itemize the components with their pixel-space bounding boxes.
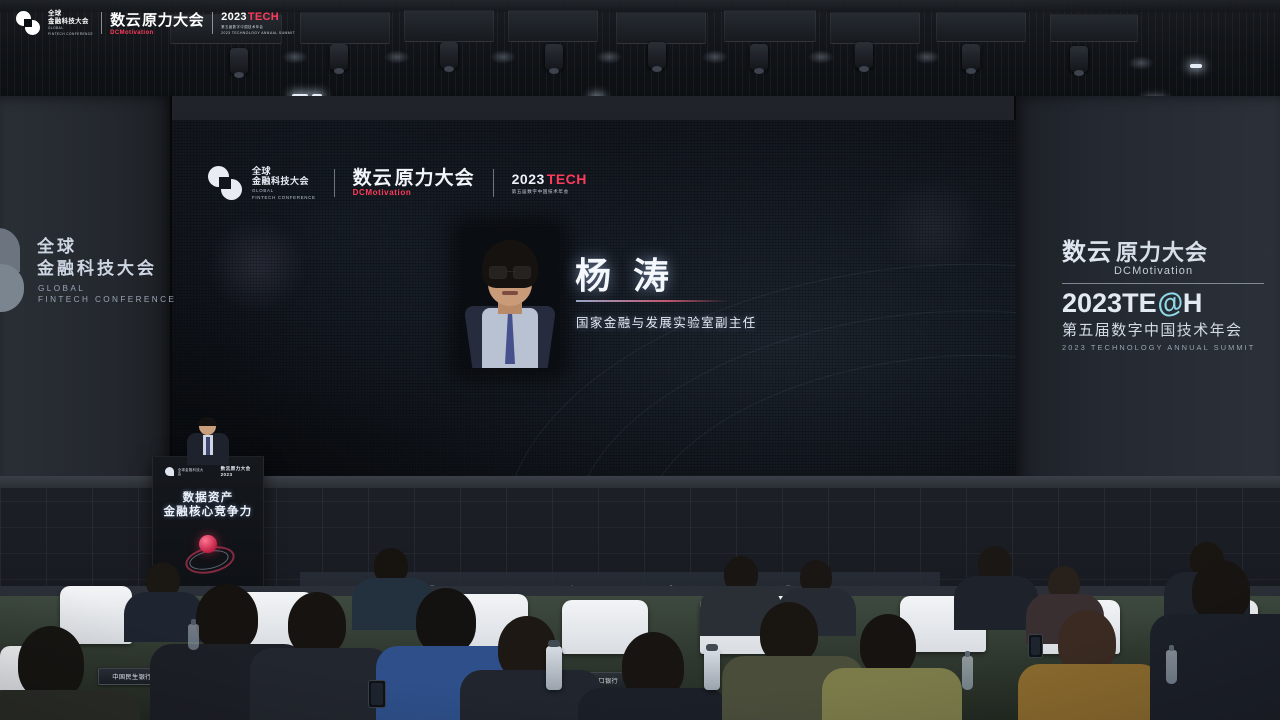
right-wall-branding: 数云 原力大会 DCMotivation 2023TE@H 第五届数字中国技术年… — [1062, 232, 1268, 352]
speaker-name-rule — [576, 300, 728, 302]
audience-head-front — [860, 614, 916, 676]
logo-divider — [334, 169, 335, 197]
audience-shoulders-front — [822, 668, 962, 720]
overlay-divider — [101, 12, 102, 34]
audience-head-front — [288, 592, 346, 656]
stage-light — [230, 48, 248, 74]
fintech-en-line1: GLOBAL — [252, 188, 316, 193]
speaker-title: 国家金融与发展实验室副主任 — [576, 312, 757, 331]
audience-head-front — [196, 584, 258, 652]
right-wall-summit-cn: 第五届数字中国技术年会 — [1062, 319, 1268, 340]
led-screen-logo-lockup: 全球 金融科技大会 GLOBAL FINTECH CONFERENCE 数云 原… — [208, 166, 587, 201]
event-title-en: DCMotivation — [353, 188, 475, 197]
stage-light — [855, 42, 873, 68]
ceiling-panel — [936, 12, 1026, 42]
audience-head-front — [1192, 560, 1250, 622]
left-wall-en-line1: GLOBAL — [38, 283, 176, 294]
presenter-at-podium — [185, 418, 231, 462]
left-wall-cn-line1: 全球 — [37, 236, 157, 258]
right-wall-summit-en: 2023 TECHNOLOGY ANNUAL SUMMIT — [1062, 343, 1268, 352]
decor-nebula — [212, 210, 302, 320]
podium-logo: 全球金融科技大会 数云原力大会 2023 — [165, 466, 263, 477]
podium-headline-line2: 金融核心竞争力 — [153, 503, 263, 519]
lamp-glow — [702, 50, 728, 64]
right-wall-year: 2023 — [1062, 288, 1122, 318]
overlay-year-subtitle-en: 2023 TECHNOLOGY ANNUAL SUMMIT — [221, 31, 295, 35]
thermos-bottle — [704, 650, 720, 690]
overlay-tech: TECH — [248, 11, 279, 23]
left-wall-cn-line2: 金融科技大会 — [37, 258, 157, 280]
broadcast-overlay: 全球 金融科技大会 GLOBAL FINTECH CONFERENCE 数云 原… — [10, 6, 301, 40]
left-wall-en-line2: FINTECH CONFERENCE — [38, 294, 176, 305]
stage-light — [648, 42, 666, 68]
overlay-year-divider — [212, 12, 213, 34]
year-number: 2023 — [512, 172, 545, 187]
overlay-cn-line1: 全球 — [48, 10, 93, 17]
stage-light — [330, 44, 348, 70]
ceiling-panel — [1050, 14, 1138, 42]
overlay-en-line2: FINTECH CONFERENCE — [48, 32, 93, 36]
podium-logo-event: 数云原力大会 2023 — [221, 466, 263, 477]
audience-shoulders-front — [0, 690, 140, 720]
overlay-brand-cn: 数云 — [110, 13, 141, 28]
year-subtitle: 第五届数字中国技术年会 — [512, 189, 587, 195]
ceiling-panel — [508, 10, 598, 42]
lamp-glow — [384, 50, 410, 64]
right-wall-title-en: DCMotivation — [1114, 265, 1268, 277]
right-wall-rule — [1062, 283, 1264, 284]
lamp-glow — [596, 50, 622, 64]
stage-light — [1070, 46, 1088, 72]
stage-light — [750, 44, 768, 70]
left-wall-brand-cn: 全球 金融科技大会 — [37, 236, 157, 280]
smartphone[interactable] — [1028, 634, 1043, 658]
audience-shoulders-front — [1018, 664, 1162, 720]
year-divider — [493, 169, 494, 197]
thermos-bottle — [546, 646, 562, 690]
speaker-name: 杨涛 — [575, 247, 691, 299]
fintech-logo-text: 全球 金融科技大会 GLOBAL FINTECH CONFERENCE — [252, 166, 316, 201]
broadcast-fintech-text: 全球 金融科技大会 GLOBAL FINTECH CONFERENCE — [48, 10, 93, 36]
overlay-year: 2023 — [221, 11, 247, 23]
ceiling-panel — [404, 10, 494, 42]
fintech-cn-line1: 全球 — [252, 166, 316, 176]
event-title-cn: 原力大会 — [395, 169, 475, 188]
right-wall-title-cn: 原力大会 — [1116, 235, 1208, 267]
fintech-logo-mark-icon — [208, 166, 242, 200]
audience-head-front — [760, 602, 818, 664]
overlay-title-en: DCMotivation — [110, 30, 204, 37]
audience-head-front — [18, 626, 84, 700]
lamp-glow — [282, 50, 308, 64]
lamp-glow — [490, 50, 516, 64]
broadcast-logo-mark-icon — [16, 11, 40, 35]
lamp-glow — [914, 50, 940, 64]
year-tech-label: TECH — [547, 172, 587, 187]
smartphone[interactable] — [368, 680, 386, 708]
event-brand-cn: 数云 — [353, 169, 393, 188]
speaker-portrait — [462, 228, 558, 368]
stage-light — [545, 44, 563, 70]
overlay-title-cn: 原力大会 — [142, 9, 204, 30]
ceiling-panel — [300, 12, 390, 44]
decor-nebula — [872, 180, 992, 270]
broadcast-year-block: 2023 TECH 第五届数字中国技术年会 2023 TECHNOLOGY AN… — [221, 11, 295, 35]
conference-stage-scene: 全球 金融科技大会 GLOBAL FINTECH CONFERENCE 数云 原… — [0, 0, 1280, 720]
right-wall-tech-left: TE — [1122, 288, 1157, 318]
ceiling-panel — [616, 12, 706, 44]
overlay-en-line1: GLOBAL — [48, 26, 93, 30]
fintech-en-line2: FINTECH CONFERENCE — [252, 195, 316, 200]
water-bottle — [188, 624, 199, 650]
stage-light — [440, 42, 458, 68]
overlay-year-subtitle-cn: 第五届数字中国技术年会 — [221, 25, 295, 29]
fintech-cn-line2: 金融科技大会 — [252, 176, 316, 186]
at-symbol-icon: @ — [1154, 287, 1186, 320]
event-logo-text: 数云 原力大会 DCMotivation — [353, 169, 475, 197]
lamp-glow — [808, 50, 834, 64]
right-wall-brand-cn: 数云 — [1062, 232, 1112, 267]
ceiling-panel — [724, 10, 816, 42]
year-lockup: 2023 TECH 第五届数字中国技术年会 — [512, 172, 587, 195]
bright-lamp — [1190, 64, 1202, 68]
left-wall-brand-en: GLOBAL FINTECH CONFERENCE — [38, 283, 176, 305]
overlay-cn-line2: 金融科技大会 — [48, 18, 93, 25]
water-bottle — [962, 656, 973, 690]
podium-orb-graphic — [185, 533, 231, 579]
lamp-glow — [1128, 56, 1154, 70]
audience-shoulders-front — [578, 688, 728, 720]
eyeglasses-icon — [489, 266, 531, 277]
water-bottle — [1166, 650, 1177, 684]
placard-label: 中国民生银行 — [112, 672, 152, 681]
audience-head-front — [416, 588, 476, 654]
podium-logo-cn: 全球金融科技大会 — [178, 468, 207, 476]
right-wall-tech-lockup: 2023TE@H — [1062, 289, 1268, 317]
podium-logo-mark-icon — [165, 467, 174, 476]
broadcast-event-text: 数云 原力大会 DCMotivation — [110, 9, 204, 37]
stage-light — [962, 44, 980, 70]
ceiling-panel — [830, 12, 920, 44]
